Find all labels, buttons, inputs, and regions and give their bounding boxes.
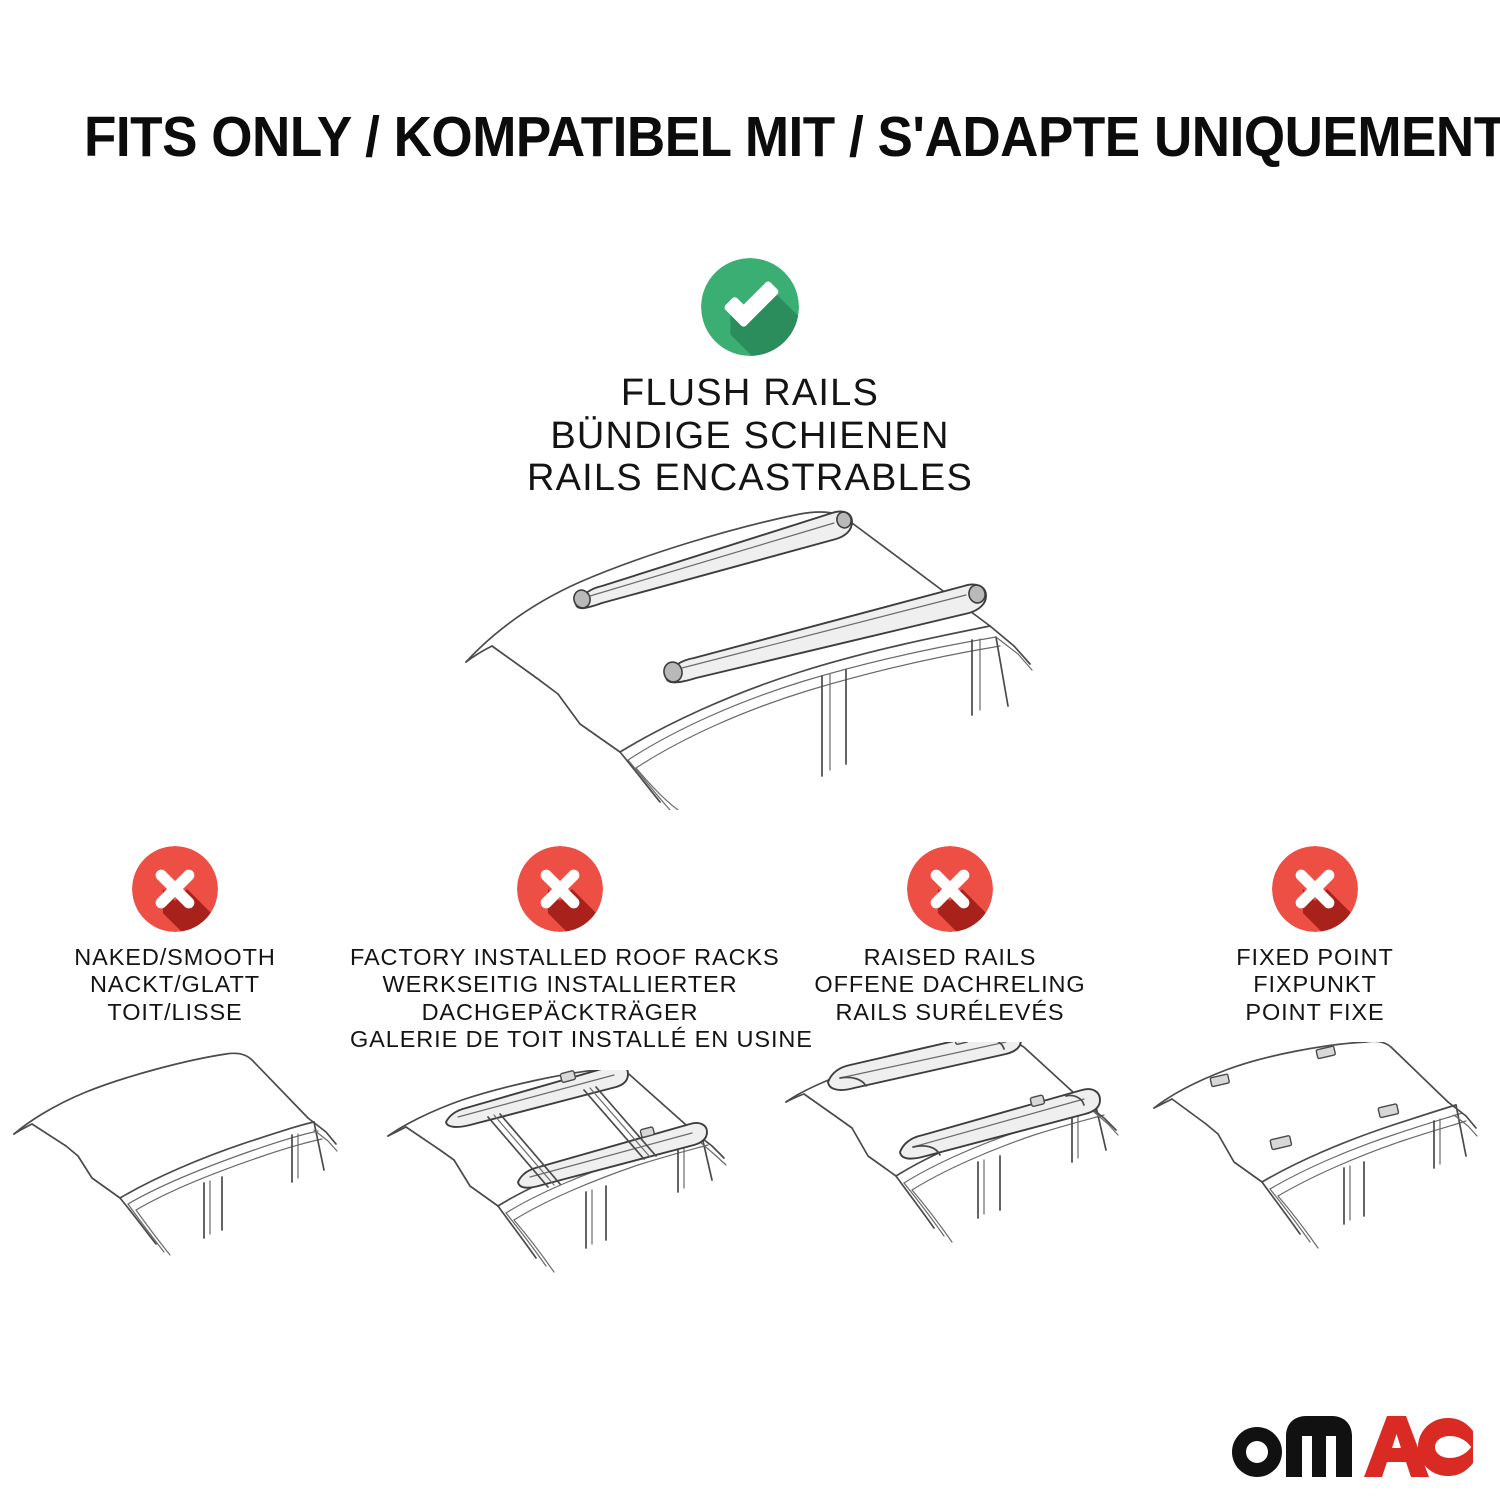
incompatible-label-de-2: DACHGEPÄCKTRÄGER [350, 999, 770, 1026]
incompatible-labels: FACTORY INSTALLED ROOF RACKS WERKSEITIG … [350, 944, 770, 1054]
compatible-section: FLUSH RAILS BÜNDIGE SCHIENEN RAILS ENCAS… [0, 258, 1500, 500]
cross-circle-icon [1272, 846, 1358, 932]
compatible-label-en: FLUSH RAILS [0, 372, 1500, 415]
incompatible-option-raised-rails: RAISED RAILS OFFENE DACHRELING RAILS SUR… [770, 846, 1130, 1257]
incompatible-label-de: NACKT/GLATT [0, 971, 350, 998]
car-roof-naked-smooth-illustration [8, 1042, 338, 1257]
cross-circle-icon [517, 846, 603, 932]
incompatible-label-de: OFFENE DACHRELING [770, 971, 1130, 998]
incompatible-label-fr: RAILS SURÉLEVÉS [770, 999, 1130, 1026]
page-title: FITS ONLY / KOMPATIBEL MIT / S'ADAPTE UN… [84, 108, 1500, 168]
incompatible-label-de: FIXPUNKT [1130, 971, 1500, 998]
incompatible-label-fr: TOIT/LISSE [0, 999, 350, 1026]
incompatible-label-en: RAISED RAILS [770, 944, 1130, 971]
incompatible-option-factory-roof-racks: FACTORY INSTALLED ROOF RACKS WERKSEITIG … [350, 846, 770, 1285]
incompatible-labels: FIXED POINT FIXPUNKT POINT FIXE [1130, 944, 1500, 1026]
incompatible-label-fr: GALERIE DE TOIT INSTALLÉ EN USINE [350, 1026, 770, 1053]
incompatible-labels: RAISED RAILS OFFENE DACHRELING RAILS SUR… [770, 944, 1130, 1026]
car-roof-factory-installed-roof-racks-illustration [378, 1070, 738, 1285]
incompatible-option-naked-smooth: NAKED/SMOOTH NACKT/GLATT TOIT/LISSE [0, 846, 350, 1257]
cross-circle-icon [132, 846, 218, 932]
incompatible-option-fixed-point: FIXED POINT FIXPUNKT POINT FIXE [1130, 846, 1500, 1257]
incompatible-label-de-1: WERKSEITIG INSTALLIERTER [350, 971, 770, 998]
incompatible-labels: NAKED/SMOOTH NACKT/GLATT TOIT/LISSE [0, 944, 350, 1026]
incompatible-label-fr: POINT FIXE [1130, 999, 1500, 1026]
incompatible-section: NAKED/SMOOTH NACKT/GLATT TOIT/LISSE [0, 846, 1500, 1285]
omac-logo [1224, 1414, 1474, 1480]
check-circle-icon [701, 258, 799, 356]
car-roof-with-flush-rails-illustration [430, 480, 1070, 810]
incompatible-label-en: FACTORY INSTALLED ROOF RACKS [350, 944, 770, 971]
incompatible-label-en: NAKED/SMOOTH [0, 944, 350, 971]
car-roof-fixed-point-illustration [1148, 1042, 1478, 1257]
cross-circle-icon [907, 846, 993, 932]
car-roof-raised-rails-illustration [778, 1042, 1128, 1257]
compatible-label-de: BÜNDIGE SCHIENEN [0, 415, 1500, 458]
incompatible-label-en: FIXED POINT [1130, 944, 1500, 971]
